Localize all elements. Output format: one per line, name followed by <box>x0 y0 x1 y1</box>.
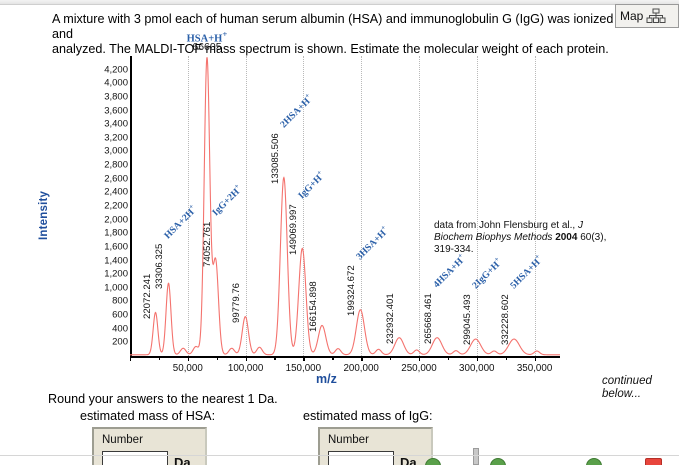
x-tick-label: 350,000 <box>517 363 552 374</box>
x-tick-label: 200,000 <box>343 363 378 374</box>
y-tick-label: 200 <box>88 337 128 348</box>
x-tick-major <box>130 356 131 361</box>
bottom-divider <box>0 455 679 456</box>
submit-button-top[interactable] <box>425 458 441 465</box>
x-tick-minor <box>217 356 218 360</box>
data-citation: data from John Flensburg et al., J Bioch… <box>434 220 614 256</box>
x-tick-major <box>477 356 478 361</box>
y-tick-label: 1,600 <box>88 241 128 252</box>
prompt-line-1: A mixture with 3 pmol each of human seru… <box>52 12 632 42</box>
y-tick-label: 4,200 <box>88 64 128 75</box>
close-button-top[interactable] <box>645 458 662 465</box>
spectrum-path <box>130 57 560 354</box>
y-tick-label: 3,000 <box>88 146 128 157</box>
x-tick-minor <box>448 356 449 360</box>
x-tick-major <box>419 356 420 361</box>
y-tick-label: 3,800 <box>88 91 128 102</box>
spectrum-trace <box>130 56 560 356</box>
continued-line-2: below... <box>602 388 652 401</box>
citation-prefix: data from John Flensburg et al., <box>434 220 575 231</box>
y-axis-ticks: 2004006008001,0001,2001,4001,6001,8002,0… <box>82 56 128 356</box>
peak-mz-label: 166154.898 <box>308 281 319 332</box>
y-tick-label: 2,000 <box>88 214 128 225</box>
peak-mz-label: 74052.761 <box>202 222 213 267</box>
peak-mz-label: 199324.672 <box>346 265 357 316</box>
peak-mz-label: 332228.602 <box>500 295 511 346</box>
scroll-handle[interactable] <box>473 448 479 465</box>
y-tick-label: 1,800 <box>88 228 128 239</box>
y-tick-label: 400 <box>88 323 128 334</box>
x-tick-major <box>303 356 304 361</box>
x-tick-label: 150,000 <box>286 363 321 374</box>
y-tick-label: 800 <box>88 296 128 307</box>
continued-line-1: continued <box>602 375 652 388</box>
x-tick-minor <box>390 356 391 360</box>
y-tick-label: 2,400 <box>88 187 128 198</box>
x-axis-line <box>130 356 560 358</box>
x-tick-minor <box>159 356 160 360</box>
igg-answer-input[interactable] <box>328 451 394 465</box>
x-tick-label: 50,000 <box>173 363 203 374</box>
rounding-note: Round your answers to the nearest 1 Da. <box>48 392 278 406</box>
peak-mz-label: 33306.325 <box>154 244 165 289</box>
mass-spectrum-chart: Intensity m/z 2004006008001,0001,2001,40… <box>52 42 632 390</box>
hsa-answer-box-title: Number <box>102 434 143 446</box>
hsa-answer-box[interactable]: Number Da <box>92 427 207 465</box>
y-axis-title: Intensity <box>38 191 50 240</box>
y-tick-label: 2,800 <box>88 160 128 171</box>
peak-mz-label: 133085.506 <box>270 133 281 184</box>
sitemap-icon <box>646 8 666 24</box>
x-tick-minor <box>506 356 507 360</box>
hsa-answer-unit: Da <box>174 455 191 465</box>
x-tick-major <box>361 356 362 361</box>
peak-mz-label: 265668.461 <box>423 293 434 344</box>
y-tick-label: 3,200 <box>88 132 128 143</box>
hsa-answer-input[interactable] <box>102 451 168 465</box>
igg-answer-box[interactable]: Number Da <box>318 427 433 465</box>
peak-mz-label: 99779.76 <box>231 283 242 323</box>
peak-mz-label: 22072.241 <box>142 273 153 318</box>
x-tick-label: 250,000 <box>401 363 436 374</box>
x-tick-minor <box>332 356 333 360</box>
peak-mz-label: 66605 <box>192 41 221 53</box>
x-tick-major <box>246 356 247 361</box>
y-tick-label: 3,600 <box>88 105 128 116</box>
igg-answer-unit: Da <box>400 455 417 465</box>
y-tick-label: 2,600 <box>88 173 128 184</box>
x-tick-minor <box>274 356 275 360</box>
peak-mz-label: 232932.401 <box>385 293 396 344</box>
page-root: Map A mixture with 3 pmol each of human … <box>0 0 679 465</box>
y-tick-label: 4,000 <box>88 78 128 89</box>
igg-answer-box-title: Number <box>328 434 369 446</box>
citation-year: 2004 <box>555 232 577 243</box>
x-axis-title: m/z <box>316 372 337 386</box>
y-tick-label: 1,200 <box>88 269 128 280</box>
peak-mz-label: 149069.997 <box>288 204 299 255</box>
y-tick-label: 600 <box>88 310 128 321</box>
y-tick-label: 2,200 <box>88 201 128 212</box>
hsa-answer-label: estimated mass of HSA: <box>80 409 215 423</box>
peak-mz-label: 299045.493 <box>462 295 473 346</box>
y-tick-label: 3,400 <box>88 119 128 130</box>
hint-button-top[interactable] <box>490 458 506 465</box>
y-tick-label: 1,400 <box>88 255 128 266</box>
igg-answer-label: estimated mass of IgG: <box>303 409 433 423</box>
x-tick-label: 100,000 <box>228 363 263 374</box>
x-tick-major <box>188 356 189 361</box>
y-tick-label: 1,000 <box>88 282 128 293</box>
window-chrome-strip <box>0 0 679 5</box>
x-tick-label: 300,000 <box>459 363 494 374</box>
continued-below-note: continued below... <box>602 375 652 401</box>
x-tick-major <box>535 356 536 361</box>
next-button-top[interactable] <box>586 458 602 465</box>
